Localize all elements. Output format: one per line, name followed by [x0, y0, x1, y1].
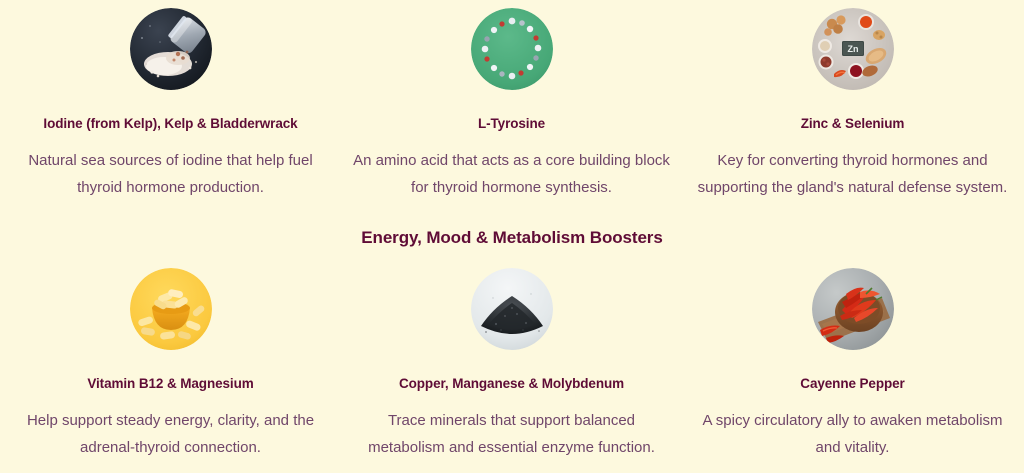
ingredient-title: Zinc & Selenium [801, 116, 905, 132]
ingredient-title: Iodine (from Kelp), Kelp & Bladderwrack [43, 116, 297, 132]
svg-text:Zn: Zn [847, 44, 858, 54]
ingredient-row-top: Iodine (from Kelp), Kelp & Bladderwrack … [0, 8, 1024, 202]
ingredient-description: A spicy circulatory ally to awaken metab… [694, 408, 1011, 461]
ingredient-title: Copper, Manganese & Molybdenum [399, 376, 624, 392]
ingredient-card-cayenne-pepper[interactable]: Cayenne Pepper A spicy circulatory ally … [682, 268, 1023, 462]
tyrosine-molecule-photo [471, 8, 553, 90]
ingredient-title: Vitamin B12 & Magnesium [87, 376, 253, 392]
ingredient-grid-page: Iodine (from Kelp), Kelp & Bladderwrack … [0, 0, 1024, 473]
ingredient-title: Cayenne Pepper [800, 376, 904, 392]
zinc-selenium-foods-photo: Zn [812, 8, 894, 90]
ingredient-title: L-Tyrosine [478, 116, 545, 132]
b12-magnesium-capsules-photo [130, 268, 212, 350]
cayenne-pepper-photo [812, 268, 894, 350]
ingredient-description: Trace minerals that support balanced met… [353, 408, 670, 461]
ingredient-description: Natural sea sources of iodine that help … [12, 148, 329, 201]
ingredient-card-zinc-selenium[interactable]: Zn [682, 8, 1023, 202]
ingredient-description: Key for converting thyroid hormones and … [694, 148, 1011, 201]
ingredient-row-bottom: Vitamin B12 & Magnesium Help support ste… [0, 268, 1024, 462]
kelp-salt-jar-photo [130, 8, 212, 90]
ingredient-card-trace-minerals[interactable]: Copper, Manganese & Molybdenum Trace min… [341, 268, 682, 462]
trace-minerals-powder-photo [471, 268, 553, 350]
ingredient-description: An amino acid that acts as a core buildi… [353, 148, 670, 201]
section-heading: Energy, Mood & Metabolism Boosters [0, 228, 1024, 248]
ingredient-description: Help support steady energy, clarity, and… [12, 408, 329, 461]
ingredient-card-b12-magnesium[interactable]: Vitamin B12 & Magnesium Help support ste… [0, 268, 341, 462]
ingredient-card-iodine[interactable]: Iodine (from Kelp), Kelp & Bladderwrack … [0, 8, 341, 202]
ingredient-card-l-tyrosine[interactable]: L-Tyrosine An amino acid that acts as a … [341, 8, 682, 202]
